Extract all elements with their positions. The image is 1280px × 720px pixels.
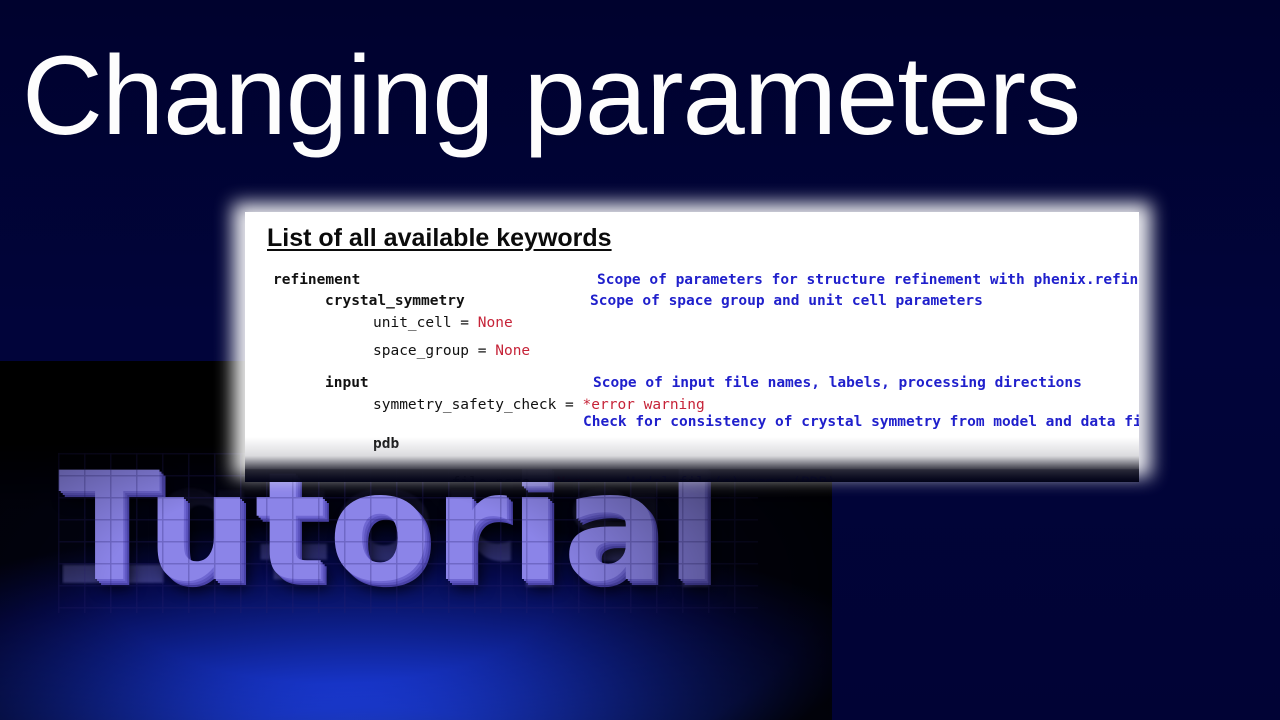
keyword-value: None (478, 315, 513, 331)
page-title: Changing parameters (22, 36, 1262, 157)
keyword-assign: = (452, 315, 478, 331)
keyword-assign: = (556, 397, 582, 413)
keyword-name: pdb (373, 436, 399, 452)
keyword-entry: crystal_symmetry (325, 293, 465, 309)
panel-heading: List of all available keywords (267, 224, 612, 253)
keyword-panel: List of all available keywords refinemen… (245, 212, 1139, 469)
keyword-entry: input (325, 375, 369, 391)
keyword-description: Check for consistency of crystal symmetr… (583, 414, 1139, 430)
keyword-entry: space_group = None (373, 343, 530, 359)
keyword-name: space_group (373, 343, 469, 359)
slide-canvas: Changing parameters Tutorial Tutorial Li… (0, 0, 1280, 720)
keyword-overflow-row: file_name = None Model file(s) name (PDB… (245, 455, 1139, 481)
keyword-name: file_name (452, 475, 531, 481)
keyword-description: Scope of space group and unit cell param… (590, 293, 983, 309)
keyword-entry: refinement (273, 272, 360, 288)
keyword-assign: = (530, 475, 556, 481)
keyword-entry: pdb (373, 436, 399, 452)
keyword-name: input (325, 375, 369, 391)
table-row: file_name = None Model file(s) name (PDB… (425, 456, 836, 481)
keyword-description: Model file(s) name (PDB) (591, 475, 835, 481)
keyword-description: Scope of parameters for structure refine… (597, 272, 1139, 288)
keyword-name: symmetry_safety_check (373, 397, 556, 413)
keyword-value: None (495, 343, 530, 359)
keyword-assign: = (469, 343, 495, 359)
keyword-value: *error warning (583, 397, 705, 413)
keyword-name: unit_cell (373, 315, 452, 331)
keyword-name: crystal_symmetry (325, 293, 465, 309)
keyword-entry: unit_cell = None (373, 315, 513, 331)
keyword-entry: symmetry_safety_check = *error warning (373, 397, 705, 413)
keyword-name: refinement (273, 272, 360, 288)
keyword-value: None (556, 475, 591, 481)
keyword-description: Scope of input file names, labels, proce… (593, 375, 1082, 391)
